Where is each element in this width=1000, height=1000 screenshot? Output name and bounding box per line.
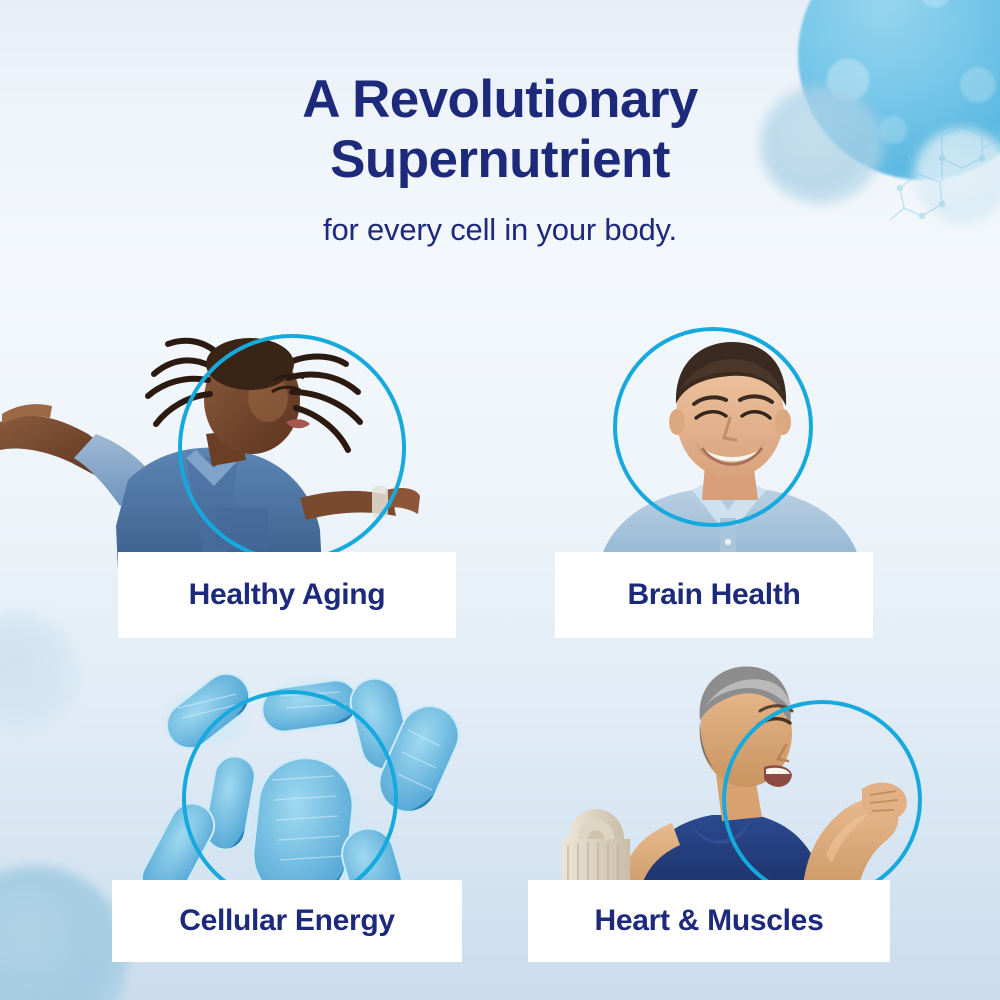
subheadline: for every cell in your body. (0, 212, 1000, 248)
benefit-label-healthy-aging: Healthy Aging (189, 578, 386, 612)
headline-line-2: Supernutrient (0, 130, 1000, 190)
accent-ring-healthy-aging (178, 334, 406, 562)
headline-block: A Revolutionary Supernutrient for every … (0, 70, 1000, 248)
accent-ring-brain-health (613, 327, 813, 527)
promo-graphic: A Revolutionary Supernutrient for every … (0, 0, 1000, 1000)
cell-blob-bottom-icon (0, 866, 128, 1000)
benefit-card-healthy-aging[interactable]: Healthy Aging (118, 552, 456, 638)
accent-ring-cellular-energy (182, 690, 398, 906)
benefit-label-heart-muscles: Heart & Muscles (595, 904, 824, 938)
benefit-label-brain-health: Brain Health (627, 578, 800, 612)
cell-blob-left-icon (0, 612, 78, 732)
benefit-label-cellular-energy: Cellular Energy (179, 904, 395, 938)
headline-line-1: A Revolutionary (0, 70, 1000, 130)
benefit-card-heart-muscles[interactable]: Heart & Muscles (528, 880, 890, 962)
accent-ring-heart-muscles (722, 700, 922, 900)
benefit-card-cellular-energy[interactable]: Cellular Energy (112, 880, 462, 962)
page-title: A Revolutionary Supernutrient (0, 70, 1000, 190)
benefit-card-brain-health[interactable]: Brain Health (555, 552, 873, 638)
